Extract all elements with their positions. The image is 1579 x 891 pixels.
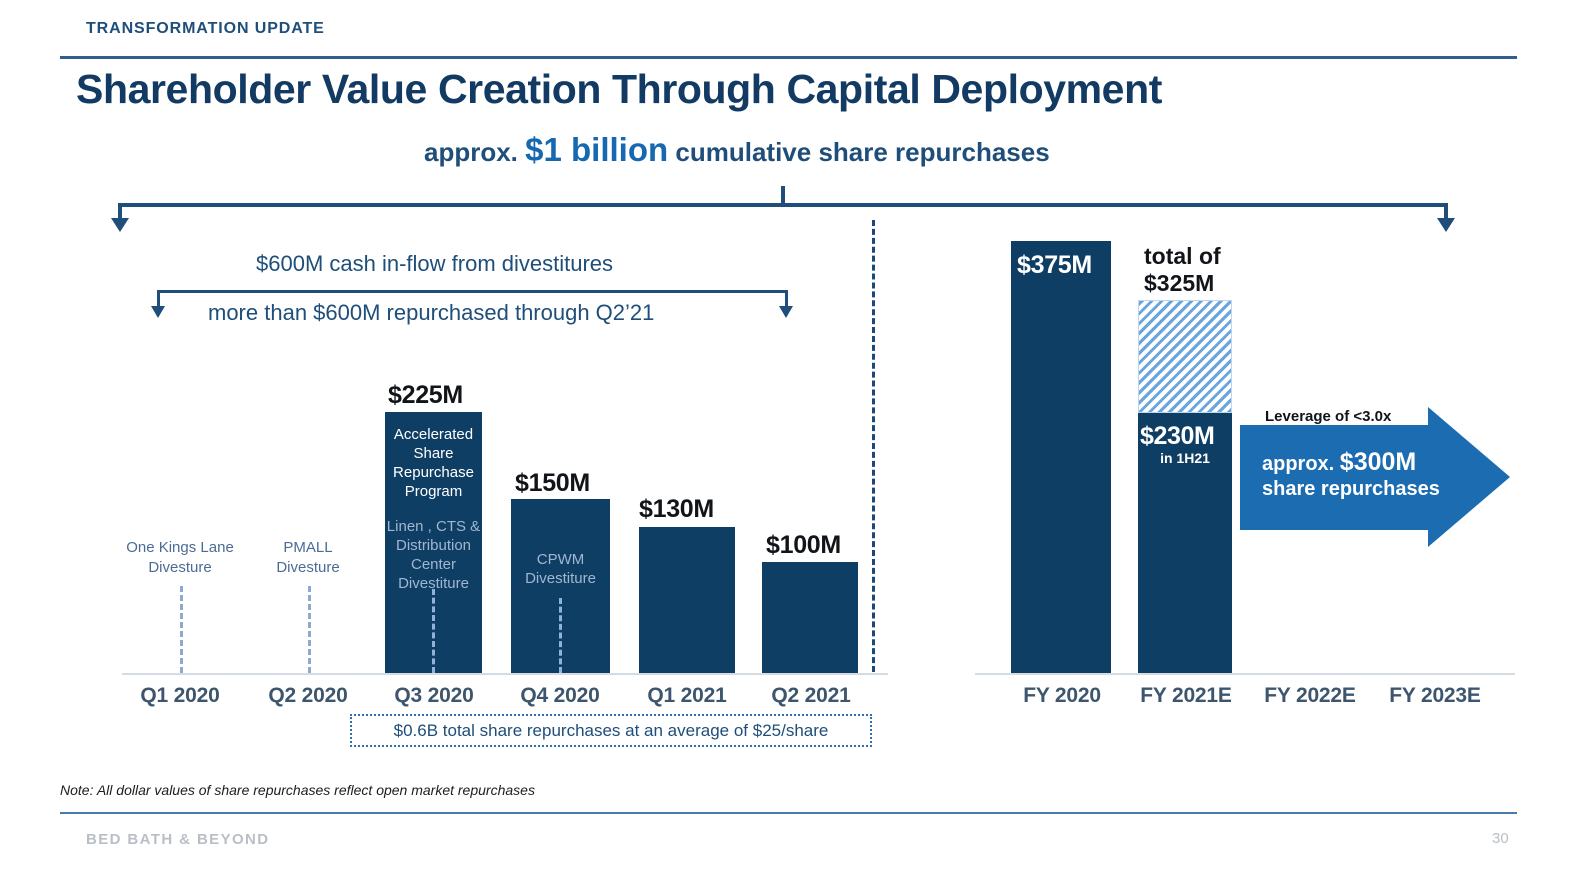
bar-label-fy-2021e-segment: $230M <box>1140 422 1214 451</box>
bar-q3-muted-line3: Center <box>385 555 482 574</box>
bar-q3-white-line4: Program <box>385 482 482 501</box>
xlabel-q2-2020: Q2 2020 <box>250 684 366 708</box>
divest-tick-pmall <box>308 586 311 673</box>
xlabel-fy-2023e: FY 2023E <box>1373 684 1497 708</box>
xlabel-fy-2022e: FY 2022E <box>1248 684 1372 708</box>
divest-note-line1: PMALL <box>252 538 364 558</box>
bar-label-fy-2020: $375M <box>1017 251 1092 280</box>
top-bracket-right-arrow-icon <box>1444 203 1448 219</box>
growth-arrow-text: approx. $300M share repurchases <box>1262 450 1440 502</box>
xlabel-q2-2021: Q2 2021 <box>753 684 869 708</box>
subtitle-suffix: cumulative share repurchases <box>668 137 1050 167</box>
xlabel-q4-2020: Q4 2020 <box>502 684 618 708</box>
page-number: 30 <box>1492 830 1509 847</box>
header-divider <box>60 56 1517 59</box>
total-of-line: total of <box>1144 243 1221 270</box>
xlabel-fy-2020: FY 2020 <box>1000 684 1124 708</box>
bar-q1-2021[interactable] <box>639 527 735 673</box>
bar-label-q1-2021: $130M <box>639 495 714 524</box>
bar-q4-muted-line2: Divestiture <box>511 569 610 588</box>
bar-label-q3-2020: $225M <box>388 381 463 410</box>
bar-q3-inner-white-text: Accelerated Share Repurchase Program <box>385 425 482 501</box>
bar-q3-white-line3: Repurchase <box>385 463 482 482</box>
mid-bracket-left-arrow-icon <box>157 290 160 307</box>
bar-q4-inner-muted-text: CPWM Divestiture <box>511 550 610 588</box>
subtitle-prefix: approx. <box>424 137 525 167</box>
top-bracket-center-tick <box>781 186 785 206</box>
mid-bracket-line <box>157 290 787 293</box>
arrow-text-line2: share repurchases <box>1262 477 1440 502</box>
arrow-text-line1: approx. $300M <box>1262 450 1440 477</box>
divest-note-line2: Divesture <box>124 558 236 578</box>
bar-fy-2021e-solid-segment[interactable]: $230M in 1H21 <box>1138 413 1232 673</box>
xlabel-q3-2020: Q3 2020 <box>376 684 492 708</box>
slide: TRANSFORMATION UPDATE Shareholder Value … <box>0 0 1579 891</box>
footnote: Note: All dollar values of share repurch… <box>60 782 535 798</box>
bar-fy-2020[interactable]: $375M <box>1011 241 1111 673</box>
axis-line-left <box>122 673 888 675</box>
footer-divider <box>60 812 1517 814</box>
bar-q3-white-line2: Share <box>385 444 482 463</box>
page-title: Shareholder Value Creation Through Capit… <box>76 66 1162 113</box>
bar-q3-muted-line2: Distribution <box>385 536 482 555</box>
divest-dash-q4-2020 <box>559 598 562 673</box>
axis-line-right <box>975 673 1515 675</box>
divest-note-pmall: PMALL Divesture <box>252 538 364 578</box>
leverage-note: Leverage of <3.0x <box>1265 408 1391 425</box>
subtitle-amount: $1 billion <box>525 131 668 168</box>
bar-label-q4-2020: $150M <box>515 469 590 498</box>
divest-note-one-kings-lane: One Kings Lane Divesture <box>124 538 236 578</box>
brand-logo: BED BATH & BEYOND <box>86 831 270 848</box>
subtitle: approx. $1 billion cumulative share repu… <box>424 131 1050 169</box>
divest-tick-one-kings-lane <box>180 586 183 673</box>
annotation-divestiture-inflow: $600M cash in-flow from divestitures <box>256 251 613 277</box>
bar-label-q2-2021: $100M <box>766 531 841 560</box>
mid-bracket-right-arrow-icon <box>785 290 788 307</box>
top-bracket-left-arrow-icon <box>118 203 122 219</box>
xlabel-q1-2020: Q1 2020 <box>122 684 238 708</box>
divest-dash-q3-2020 <box>432 589 435 673</box>
total-amount-line: $325M <box>1144 270 1221 297</box>
divest-note-line2: Divesture <box>252 558 364 578</box>
arrow-prefix: approx. <box>1262 453 1340 475</box>
bar-q2-2021[interactable] <box>762 562 858 673</box>
divest-note-line1: One Kings Lane <box>124 538 236 558</box>
eyebrow-label: TRANSFORMATION UPDATE <box>86 20 325 38</box>
bar-q3-inner-muted-text: Linen , CTS & Distribution Center Divest… <box>385 517 482 593</box>
xlabel-fy-2021e: FY 2021E <box>1124 684 1248 708</box>
bar-label-fy-2021e-total: total of $325M <box>1144 243 1221 297</box>
xlabel-q1-2021: Q1 2021 <box>629 684 745 708</box>
arrow-amount: $300M <box>1340 448 1416 476</box>
bar-sublabel-fy-2021e-segment: in 1H21 <box>1138 450 1232 466</box>
bar-q4-muted-line1: CPWM <box>511 550 610 569</box>
section-divider-dashed <box>872 220 875 672</box>
annotation-repurchased-through: more than $600M repurchased through Q2’2… <box>208 300 654 326</box>
bar-q3-muted-line1: Linen , CTS & <box>385 517 482 536</box>
growth-arrow-head <box>1428 407 1510 547</box>
bar-q3-white-line1: Accelerated <box>385 425 482 444</box>
callout-total-repurchases: $0.6B total share repurchases at an aver… <box>350 714 872 747</box>
bar-fy-2021e-hatched-segment[interactable] <box>1138 300 1232 413</box>
